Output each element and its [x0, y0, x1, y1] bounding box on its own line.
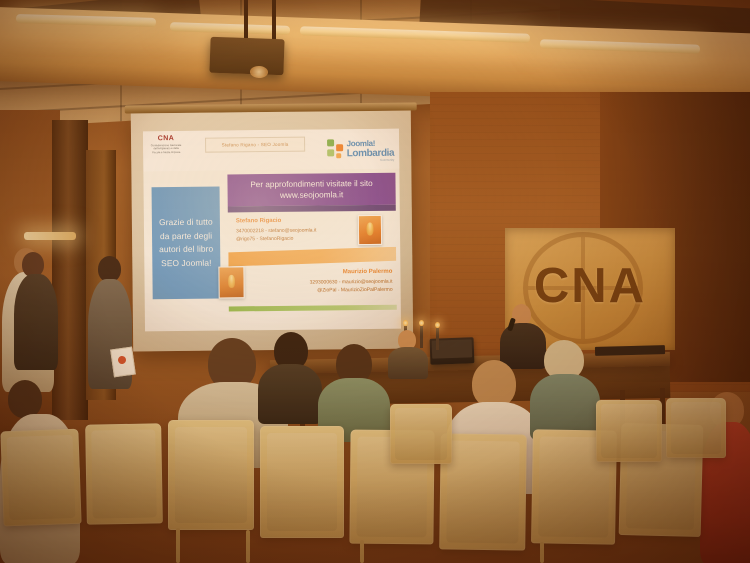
- contact-block-1: Stefano Rigacio 3470002218 - stefano@seo…: [236, 217, 362, 243]
- contact-2-social: @ZioPal - MaurizioZioPalPalermo: [249, 285, 393, 295]
- standing-attendee-2: [14, 252, 58, 372]
- joomla-icon: [328, 139, 345, 158]
- chair: [0, 429, 81, 527]
- website-banner: Per approfondimenti visitate il sito www…: [227, 173, 395, 207]
- audience-member-3: [318, 344, 390, 436]
- attendee-2-torso: [14, 274, 58, 370]
- thanks-panel-text: Grazie di tutto da parte degli autori de…: [156, 216, 217, 271]
- candle-flame-2: [419, 320, 424, 326]
- presentation-slide: CNA Confederazione Nazionale dell'Artigi…: [143, 129, 401, 332]
- contact-2-name: Maurizio Palermo: [248, 269, 392, 277]
- chair: [439, 433, 527, 550]
- chair: [260, 426, 344, 538]
- audience-member-5: [530, 340, 600, 432]
- chair-back-row: [596, 400, 662, 462]
- green-accent-bar: [229, 305, 397, 312]
- panelist-seated: [388, 330, 428, 374]
- standing-attendee-3: [86, 256, 134, 392]
- ceiling-projector: [209, 37, 284, 76]
- book-cover-thumbnail-2: [218, 266, 244, 298]
- website-banner-text: Per approfondimenti visitate il sito www…: [250, 177, 373, 201]
- book-cover-figure-2: [228, 275, 235, 288]
- candle-flame-3: [435, 322, 440, 328]
- audience-4-head: [472, 360, 516, 408]
- audio-equipment: [595, 345, 665, 356]
- audience-member-2: [258, 332, 322, 420]
- joomla-logo-words: Joomla! Lombardia Community: [346, 134, 394, 162]
- chair-back-row: [666, 398, 726, 458]
- candle-3: [436, 328, 439, 350]
- chair: [85, 423, 163, 524]
- banner-underline: [228, 205, 396, 213]
- slide-title-text: Stefano Rigano - SEO Joomla: [222, 142, 289, 148]
- cna-logo-subtitle: Confederazione Nazionale dell'Artigianat…: [149, 144, 183, 154]
- projector-rod-1: [244, 0, 248, 42]
- cna-logo-mark: CNA: [149, 135, 183, 143]
- audience-2-torso: [258, 364, 322, 424]
- slide-title-bar: Stefano Rigano - SEO Joomla: [205, 137, 305, 153]
- orange-divider-band: [228, 247, 396, 267]
- contact-block-2: Maurizio Palermo 3293000630 - maurizio@s…: [248, 269, 392, 295]
- chair-leg: [246, 530, 250, 563]
- chair: [168, 420, 254, 530]
- joomla-lombardia-logo: Joomla! Lombardia Community: [327, 133, 394, 164]
- book-cover-thumbnail-1: [358, 215, 382, 245]
- thanks-panel: Grazie di tutto da parte degli autori de…: [152, 187, 221, 300]
- panelist-torso: [388, 347, 428, 379]
- joomla-logo-sub: Community: [347, 159, 395, 162]
- book-cover-figure-1: [366, 223, 373, 236]
- joomla-logo-line1: Joomla!: [347, 139, 376, 148]
- wall-lamp: [24, 232, 76, 240]
- chair-leg: [540, 542, 544, 563]
- projector-rod-2: [272, 0, 276, 44]
- contact-1-name: Stefano Rigacio: [236, 217, 362, 224]
- chair-leg: [176, 528, 180, 563]
- banner-line-1: Per approfondimenti visitate il sito: [250, 178, 373, 188]
- projection-screen: CNA Confederazione Nazionale dell'Artigi…: [131, 111, 413, 352]
- contact-1-social: @rigo75 - StefanoRigacio: [236, 234, 362, 243]
- cna-logo-icon: CNA Confederazione Nazionale dell'Artigi…: [149, 135, 183, 167]
- chair-leg: [360, 540, 364, 563]
- candle-flame-1: [403, 320, 408, 326]
- banner-line-2: www.seojoomla.it: [280, 190, 343, 200]
- conference-room-photo: CNA CNA Confederazione Nazionale dell'Ar…: [0, 0, 750, 563]
- fg-left-head: [8, 380, 42, 418]
- chair-back-row: [390, 404, 452, 464]
- slide-header: CNA Confederazione Nazionale dell'Artigi…: [143, 129, 399, 172]
